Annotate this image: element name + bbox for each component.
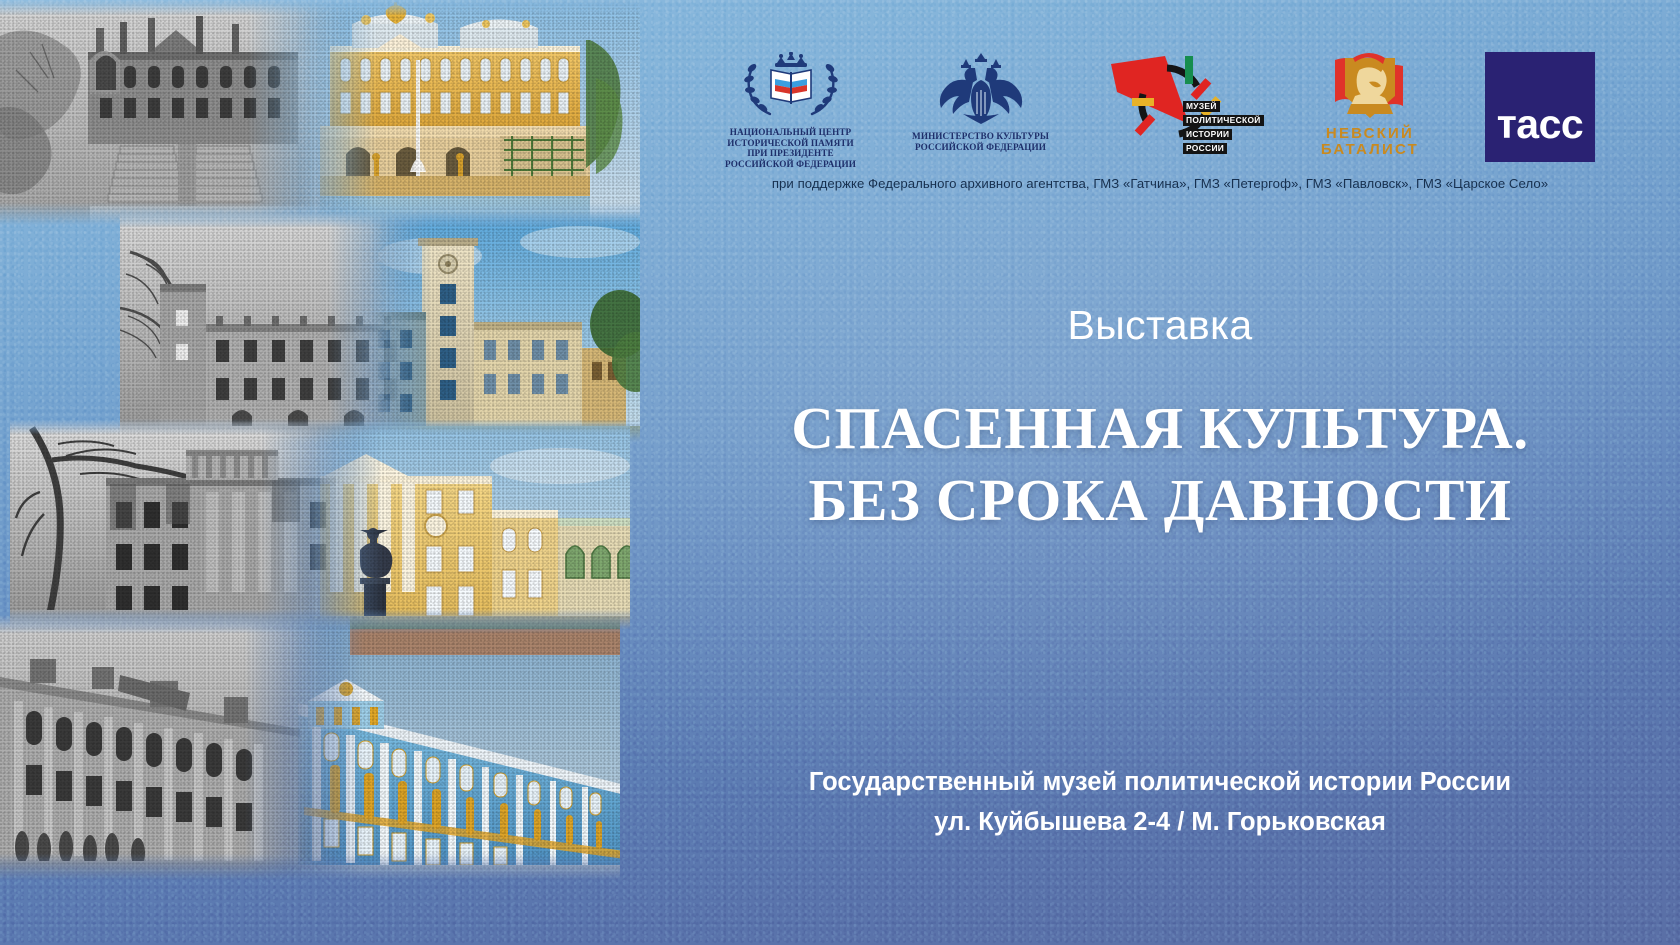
photo-catherine-palace [0, 615, 620, 880]
museum-tag-line3: ИСТОРИИ [1183, 129, 1232, 140]
title-line-1: СПАСЕННАЯ КУЛЬТУРА. [791, 395, 1528, 461]
photo-peterhof [0, 0, 640, 225]
logo-museum-political-history: МУЗЕЙ ПОЛИТИЧЕСКОЙ ИСТОРИИ РОССИИ [1105, 52, 1255, 157]
partner-logo-row: НАЦИОНАЛЬНЫЙ ЦЕНТР ИСТОРИЧЕСКОЙ ПАМЯТИ П… [640, 52, 1680, 172]
photo-pavlovsk [10, 420, 630, 630]
logo-nevsky-batalist: НЕВСКИЙ БАТАЛИСТ [1311, 52, 1429, 156]
venue-block: Государственный музей политической истор… [640, 762, 1680, 842]
palace-photo-collage [0, 0, 660, 945]
logo-ministry-of-culture: МИНИСТЕРСТВО КУЛЬТУРЫ РОССИЙСКОЙ ФЕДЕРАЦ… [912, 52, 1049, 152]
peterhof-restored-color-half [300, 0, 640, 225]
museum-tag-line4: РОССИИ [1183, 143, 1227, 154]
gatchina-ruined-bw-half [120, 212, 410, 442]
logo-caption: МИНИСТЕРСТВО КУЛЬТУРЫ РОССИЙСКОЙ ФЕДЕРАЦ… [912, 131, 1049, 152]
peterhof-ruined-bw-half [0, 0, 345, 225]
poster-content: НАЦИОНАЛЬНЫЙ ЦЕНТР ИСТОРИЧЕСКОЙ ПАМЯТИ П… [640, 0, 1680, 945]
catherine-palace-ruined-bw-half [0, 615, 340, 880]
pavlovsk-restored-color-half [310, 420, 630, 630]
red-megaphone-dashed-circle-icon: МУЗЕЙ ПОЛИТИЧЕСКОЙ ИСТОРИИ РОССИИ [1105, 52, 1255, 157]
photo-gatchina [120, 212, 640, 442]
title-line-2: БЕЗ СРОКА ДАВНОСТИ [640, 464, 1680, 536]
catherine-palace-restored-color-half [290, 615, 620, 880]
logo-caption: НАЦИОНАЛЬНЫЙ ЦЕНТР ИСТОРИЧЕСКОЙ ПАМЯТИ П… [725, 127, 856, 169]
venue-museum-name: Государственный музей политической истор… [640, 762, 1680, 802]
museum-tag-line2: ПОЛИТИЧЕСКОЙ [1183, 115, 1264, 126]
museum-tag-line1: МУЗЕЙ [1183, 101, 1220, 112]
exhibition-title: СПАСЕННАЯ КУЛЬТУРА. БЕЗ СРОКА ДАВНОСТИ [640, 392, 1680, 536]
tass-wordmark: тасс [1497, 104, 1584, 145]
soldier-red-banner-badge-icon: НЕВСКИЙ БАТАЛИСТ [1311, 52, 1429, 156]
exhibition-kicker: Выставка [640, 302, 1680, 349]
venue-address: ул. Куйбышева 2-4 / М. Горьковская [640, 802, 1680, 842]
gatchina-restored-color-half [370, 212, 640, 442]
double-headed-eagle-lyre-icon [933, 52, 1029, 126]
batalist-label-line1: НЕВСКИЙ [1311, 126, 1429, 142]
support-line: при поддержке Федерального архивного аге… [640, 176, 1680, 191]
logo-national-centre-historical-memory: НАЦИОНАЛЬНЫЙ ЦЕНТР ИСТОРИЧЕСКОЙ ПАМЯТИ П… [725, 52, 856, 169]
pavlovsk-ruined-bw-half [10, 420, 360, 630]
tass-square-logo-icon: тасс [1485, 52, 1595, 162]
batalist-label-line2: БАТАЛИСТ [1311, 142, 1429, 158]
laurel-wreath-book-emblem-icon [737, 52, 845, 122]
exhibition-poster: НАЦИОНАЛЬНЫЙ ЦЕНТР ИСТОРИЧЕСКОЙ ПАМЯТИ П… [0, 0, 1680, 945]
logo-tass: тасс [1485, 52, 1595, 162]
